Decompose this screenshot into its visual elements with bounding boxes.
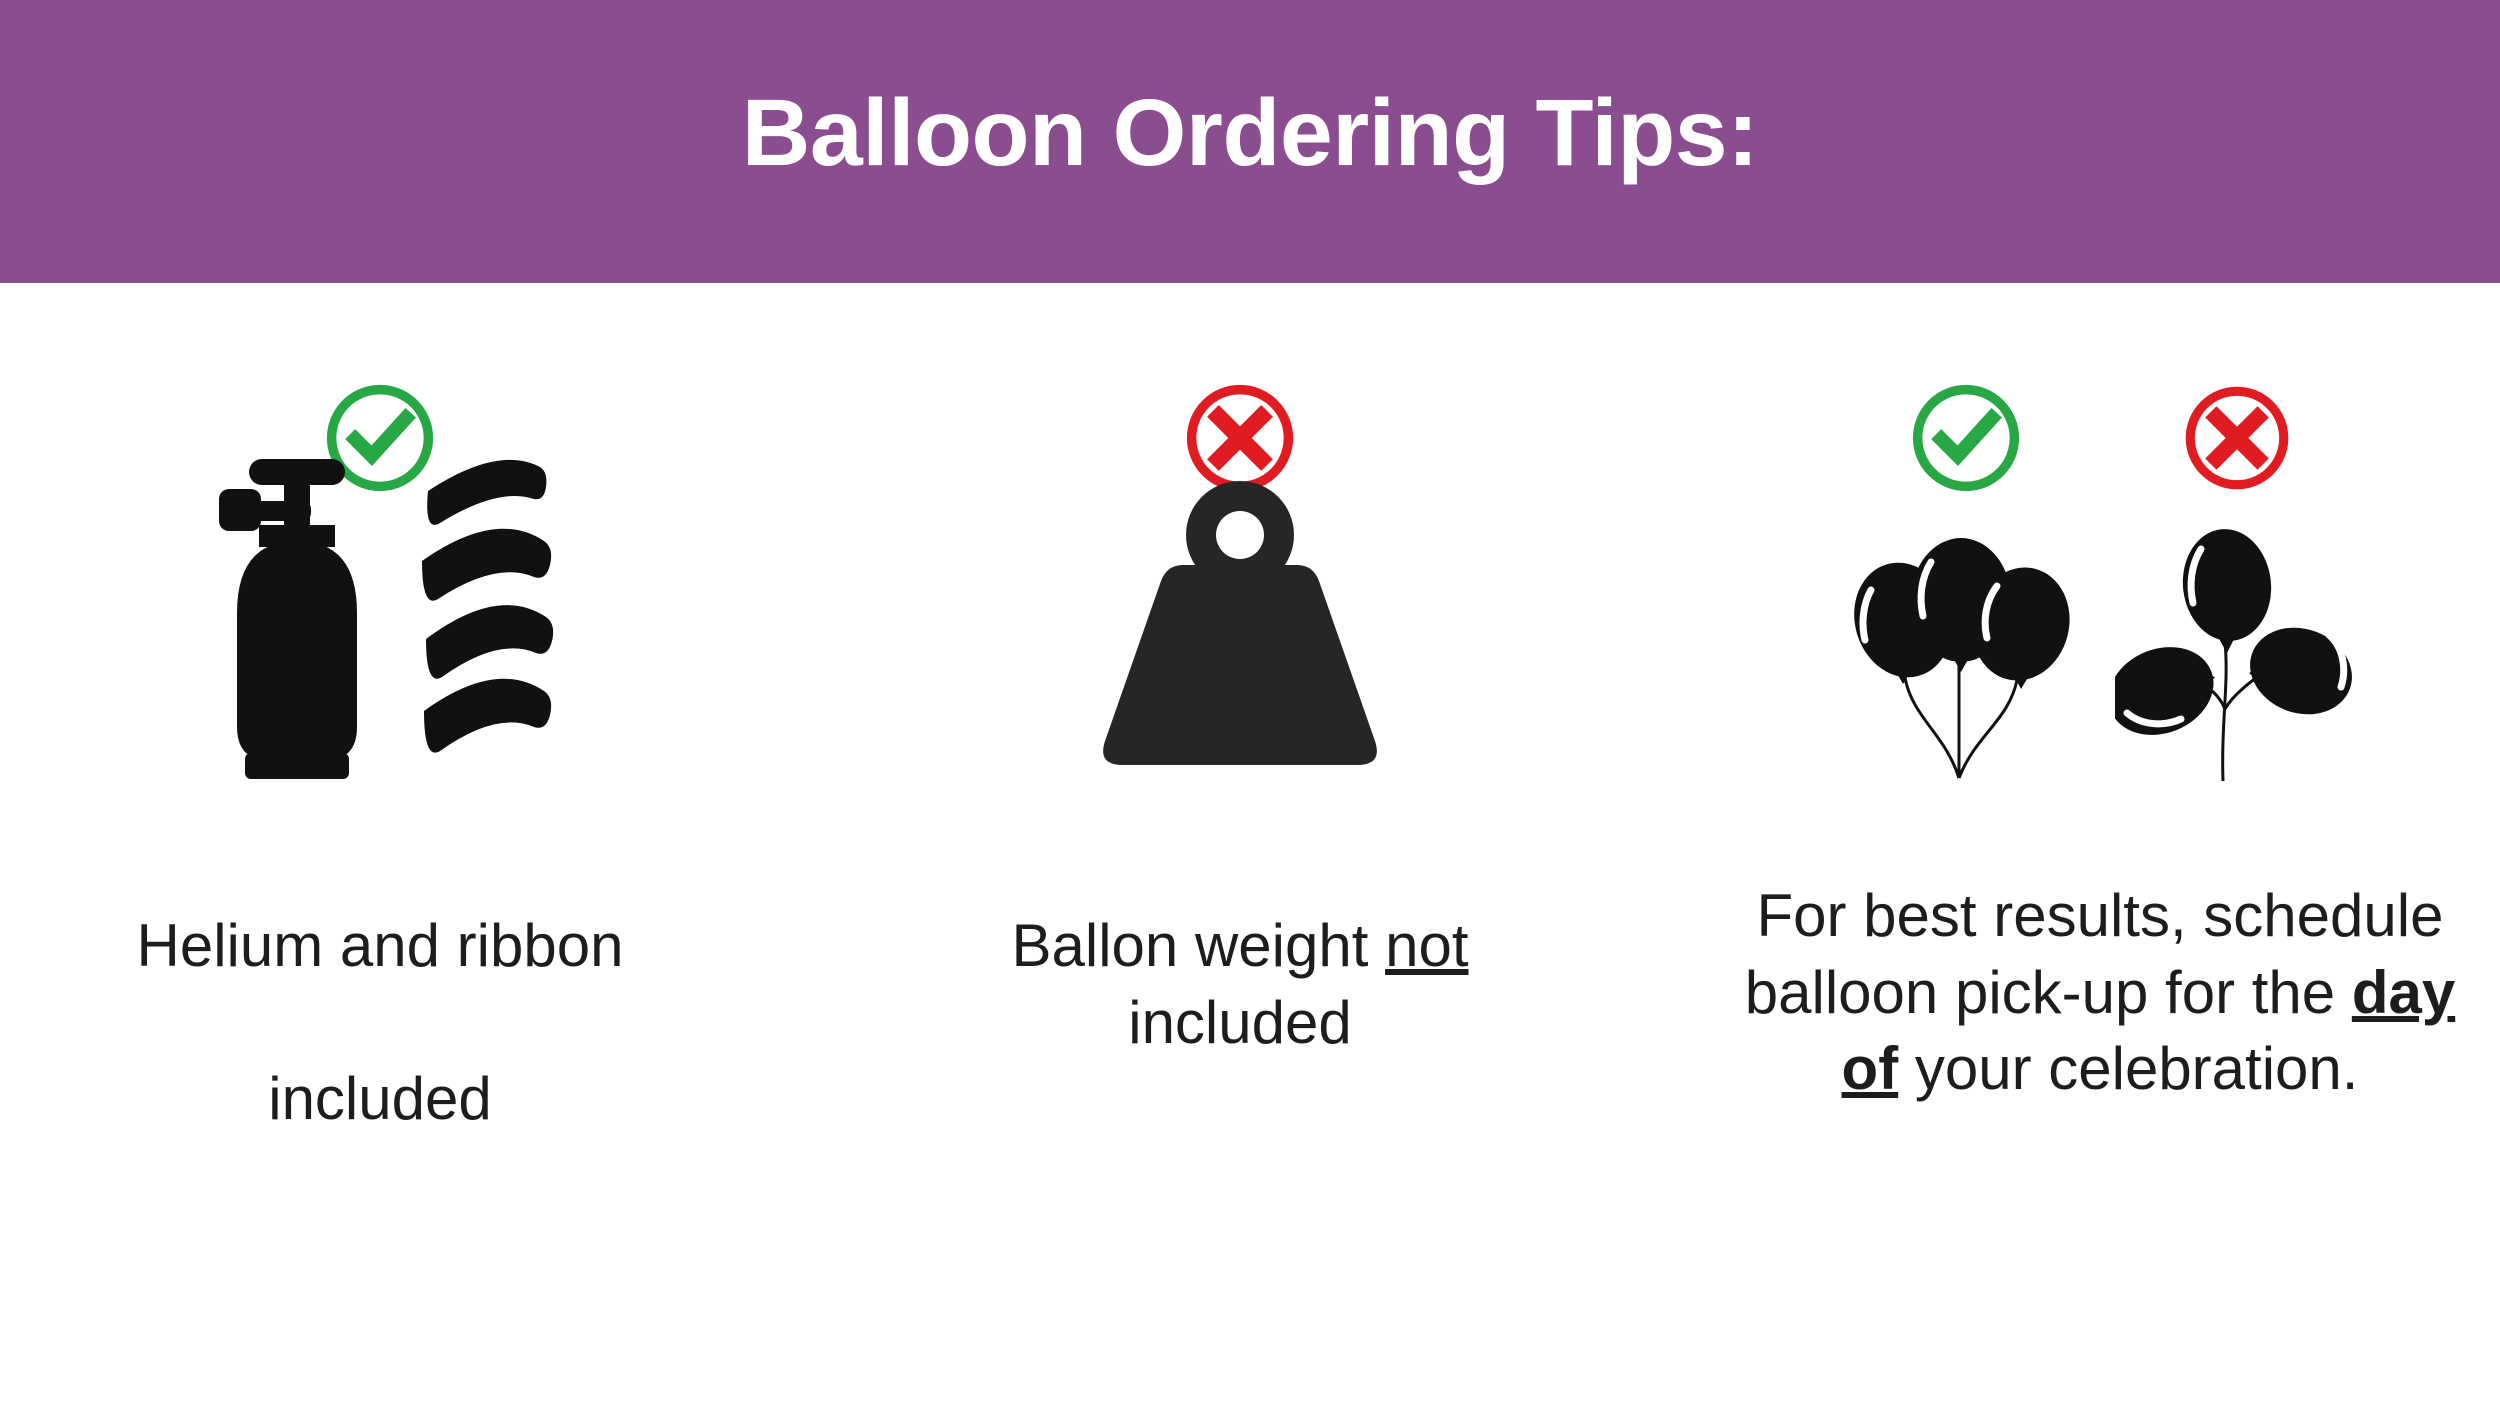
- status-icons-row-3: [1907, 375, 2294, 505]
- inflated-balloons-icon: [1835, 528, 2085, 788]
- artwork-row-1: [201, 533, 560, 783]
- check-circle-icon: [1907, 379, 2025, 502]
- balloon-weight-icon: [1065, 473, 1415, 783]
- caption-text-after: included: [1128, 989, 1352, 1056]
- balloon-ordering-tips-page: Balloon Ordering Tips:: [0, 0, 2500, 1406]
- caption-balloon-weight: Ballon weight not included: [930, 831, 1550, 1061]
- tip-column-helium-ribbon: Helium and ribbon included: [0, 283, 760, 1138]
- caption-text-before: For best results, schedule balloon pick-…: [1745, 882, 2444, 1026]
- header-banner: Balloon Ordering Tips:: [0, 0, 2500, 283]
- artwork-row-2: [1065, 533, 1415, 783]
- caption-pickup-timing: For best results, schedule balloon pick-…: [1710, 801, 2490, 1108]
- tip-column-balloon-weight: Ballon weight not included: [860, 283, 1620, 1061]
- caption-line-2: included: [268, 1065, 492, 1132]
- page-title: Balloon Ordering Tips:: [742, 86, 1758, 181]
- caption-line-1: Helium and ribbon: [137, 912, 624, 979]
- deflated-balloons-icon: [2115, 523, 2365, 793]
- artwork-row-3: [1835, 533, 2365, 783]
- caption-text-before: Ballon weight: [1012, 912, 1386, 979]
- helium-tank-icon: [201, 453, 386, 783]
- curly-ribbon-icon: [400, 443, 560, 783]
- cross-circle-icon: [2180, 381, 2294, 500]
- caption-helium-ribbon: Helium and ribbon included: [80, 831, 680, 1138]
- caption-text-after: your celebration.: [1898, 1035, 2358, 1102]
- caption-emphasis-not: not: [1385, 912, 1468, 979]
- tip-column-pickup-timing: For best results, schedule balloon pick-…: [1700, 283, 2500, 1108]
- tips-columns: Helium and ribbon included: [0, 283, 2500, 1406]
